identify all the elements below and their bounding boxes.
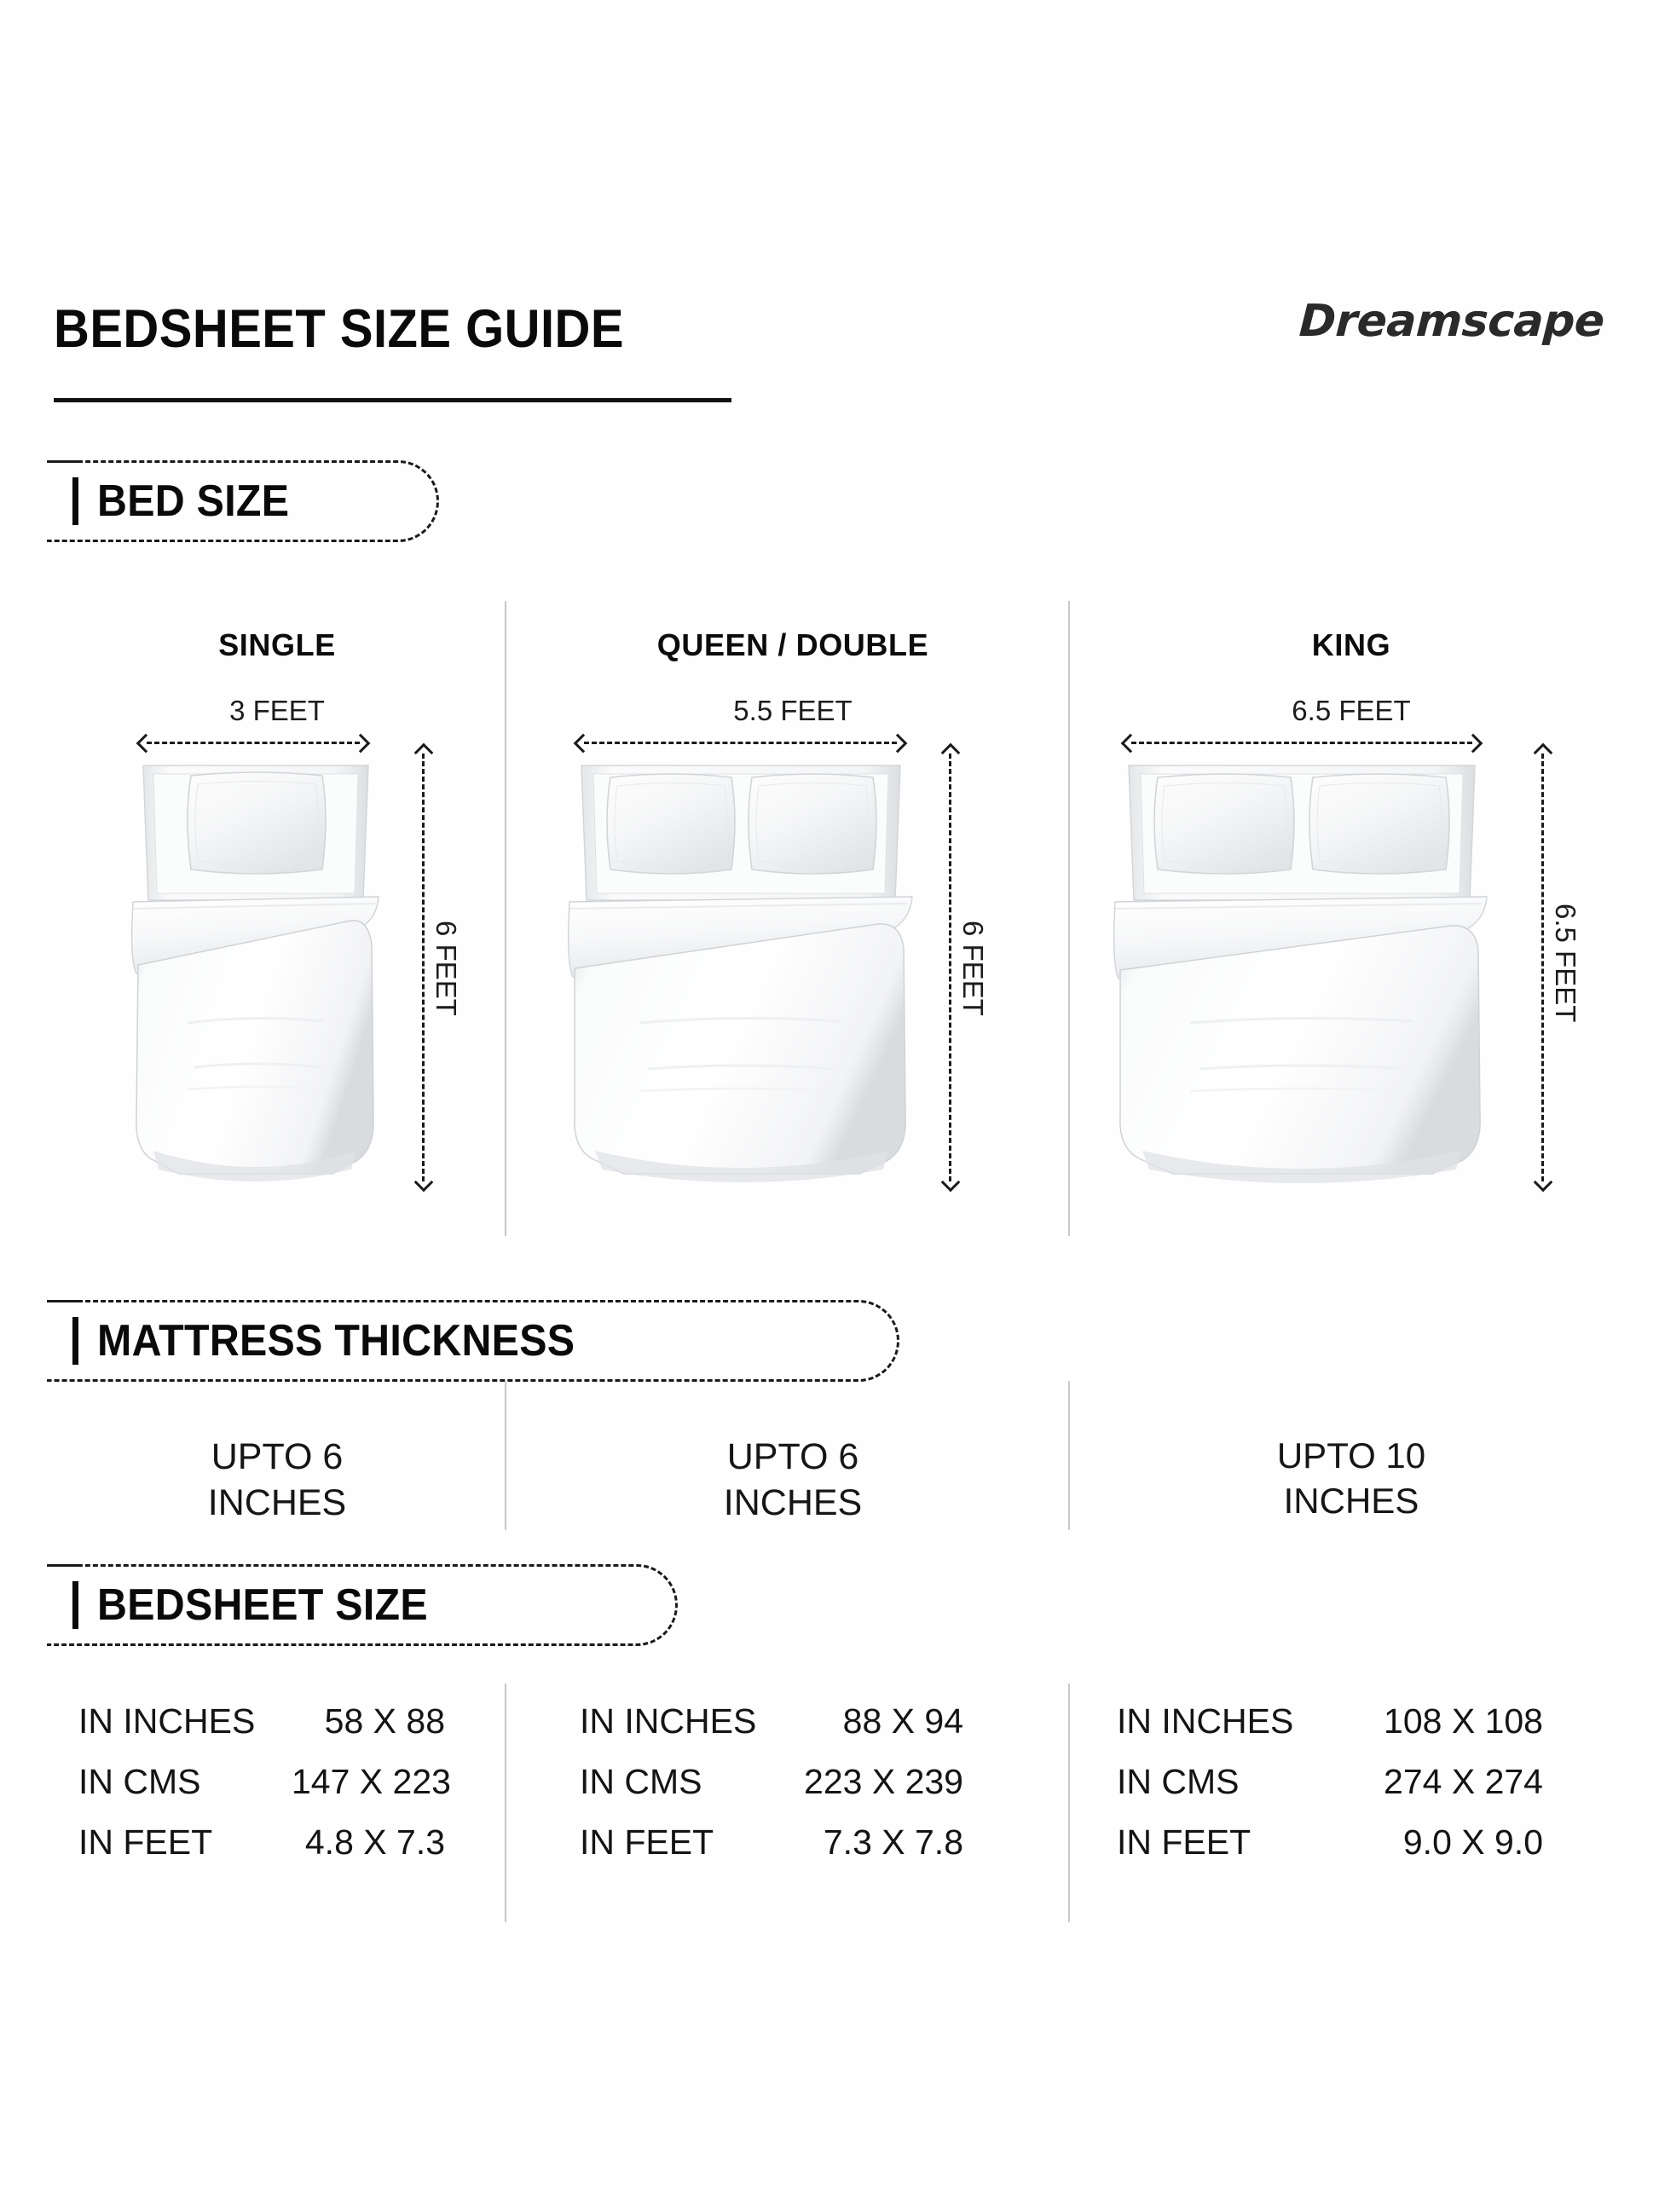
arrow-line [422, 754, 425, 1181]
column-separator-6 [1068, 1684, 1070, 1922]
section-label: MATTRESS THICKNESS [97, 1319, 575, 1363]
width-label-king: 6.5 FEET [1125, 695, 1577, 727]
column-heading-queen: QUEEN / DOUBLE [567, 627, 1019, 663]
column-separator-5 [505, 1684, 506, 1922]
arrow-bottom-tip-icon [1534, 1173, 1553, 1193]
arrow-line [1131, 742, 1472, 744]
table-row: IN INCHES 88 X 94 [580, 1701, 963, 1762]
mattress-thickness-line2: INCHES [51, 1480, 503, 1526]
page-title: BEDSHEET SIZE GUIDE [54, 303, 624, 356]
row-value: 223 X 239 [793, 1762, 963, 1802]
height-arrow-king [1535, 746, 1550, 1189]
mattress-thickness-line1: UPTO 6 [51, 1434, 503, 1480]
row-value: 9.0 X 9.0 [1330, 1822, 1543, 1863]
column-separator-2 [1068, 601, 1070, 1236]
arrow-line [1541, 754, 1544, 1181]
width-arrow-single [139, 735, 367, 750]
table-row: IN CMS 274 X 274 [1117, 1762, 1552, 1822]
bed-illustration-queen [563, 750, 919, 1189]
column-heading-single: SINGLE [51, 627, 503, 663]
mattress-thickness-line1: UPTO 6 [567, 1434, 1019, 1480]
height-label-queen: 6 FEET [957, 921, 989, 1016]
accent-bar [72, 477, 78, 525]
row-value: 147 X 223 [292, 1762, 445, 1802]
row-value: 274 X 274 [1330, 1762, 1543, 1802]
column-separator-4 [1068, 1381, 1070, 1530]
height-label-single: 6 FEET [430, 921, 462, 1016]
column-separator-3 [505, 1381, 506, 1530]
row-label: IN FEET [580, 1822, 793, 1863]
column-heading-king: KING [1125, 627, 1577, 663]
row-value: 108 X 108 [1330, 1701, 1543, 1741]
section-header-mattress-thickness: MATTRESS THICKNESS [47, 1300, 899, 1382]
bedsheet-size-table-single: IN INCHES 58 X 88 IN CMS 147 X 223 IN FE… [78, 1701, 445, 1883]
infographic-page: BEDSHEET SIZE GUIDE Dreamscape BED SIZE … [0, 0, 1659, 2212]
height-arrow-queen [942, 746, 957, 1189]
bedsheet-size-table-queen: IN INCHES 88 X 94 IN CMS 223 X 239 IN FE… [580, 1701, 963, 1883]
height-arrow-single [415, 746, 431, 1189]
accent-bar [72, 1581, 78, 1629]
arrow-line [147, 742, 360, 744]
arrow-bottom-tip-icon [941, 1173, 961, 1193]
row-label: IN INCHES [580, 1701, 793, 1741]
row-label: IN CMS [1117, 1762, 1330, 1802]
brand-logo: Dreamscape [1298, 296, 1606, 347]
mattress-thickness-line1: UPTO 10 [1125, 1434, 1577, 1479]
arrow-bottom-tip-icon [414, 1173, 434, 1193]
mattress-thickness-king: UPTO 10 INCHES [1125, 1434, 1577, 1524]
row-value: 4.8 X 7.3 [292, 1822, 445, 1863]
row-value: 58 X 88 [292, 1701, 445, 1741]
bed-illustration-single [128, 750, 384, 1189]
column-separator-1 [505, 601, 506, 1236]
row-label: IN INCHES [1117, 1701, 1330, 1741]
table-row: IN INCHES 108 X 108 [1117, 1701, 1552, 1762]
mattress-thickness-single: UPTO 6 INCHES [51, 1434, 503, 1526]
width-label-queen: 5.5 FEET [567, 695, 1019, 727]
height-label-king: 6.5 FEET [1549, 904, 1581, 1022]
row-label: IN FEET [78, 1822, 292, 1863]
table-row: IN FEET 9.0 X 9.0 [1117, 1822, 1552, 1883]
title-underline [54, 398, 731, 402]
bedsheet-size-table-king: IN INCHES 108 X 108 IN CMS 274 X 274 IN … [1117, 1701, 1552, 1883]
mattress-thickness-line2: INCHES [567, 1480, 1019, 1526]
table-row: IN INCHES 58 X 88 [78, 1701, 445, 1762]
header: BEDSHEET SIZE GUIDE Dreamscape [0, 303, 1659, 439]
table-row: IN FEET 4.8 X 7.3 [78, 1822, 445, 1883]
section-label: BEDSHEET SIZE [97, 1583, 428, 1627]
row-label: IN INCHES [78, 1701, 292, 1741]
row-value: 88 X 94 [793, 1701, 963, 1741]
width-arrow-queen [576, 735, 905, 750]
mattress-thickness-queen: UPTO 6 INCHES [567, 1434, 1019, 1526]
row-label: IN FEET [1117, 1822, 1330, 1863]
arrow-line [584, 742, 897, 744]
bed-illustration-king [1108, 750, 1494, 1189]
width-label-single: 3 FEET [51, 695, 503, 727]
section-header-bed-size: BED SIZE [47, 460, 439, 542]
table-row: IN CMS 223 X 239 [580, 1762, 963, 1822]
mattress-thickness-line2: INCHES [1125, 1479, 1577, 1524]
row-label: IN CMS [78, 1762, 292, 1802]
accent-bar [72, 1317, 78, 1365]
row-label: IN CMS [580, 1762, 793, 1802]
arrow-line [949, 754, 951, 1181]
table-row: IN FEET 7.3 X 7.8 [580, 1822, 963, 1883]
row-value: 7.3 X 7.8 [793, 1822, 963, 1863]
section-header-bedsheet-size: BEDSHEET SIZE [47, 1564, 678, 1646]
width-arrow-king [1124, 735, 1480, 750]
section-label: BED SIZE [97, 479, 289, 523]
table-row: IN CMS 147 X 223 [78, 1762, 445, 1822]
